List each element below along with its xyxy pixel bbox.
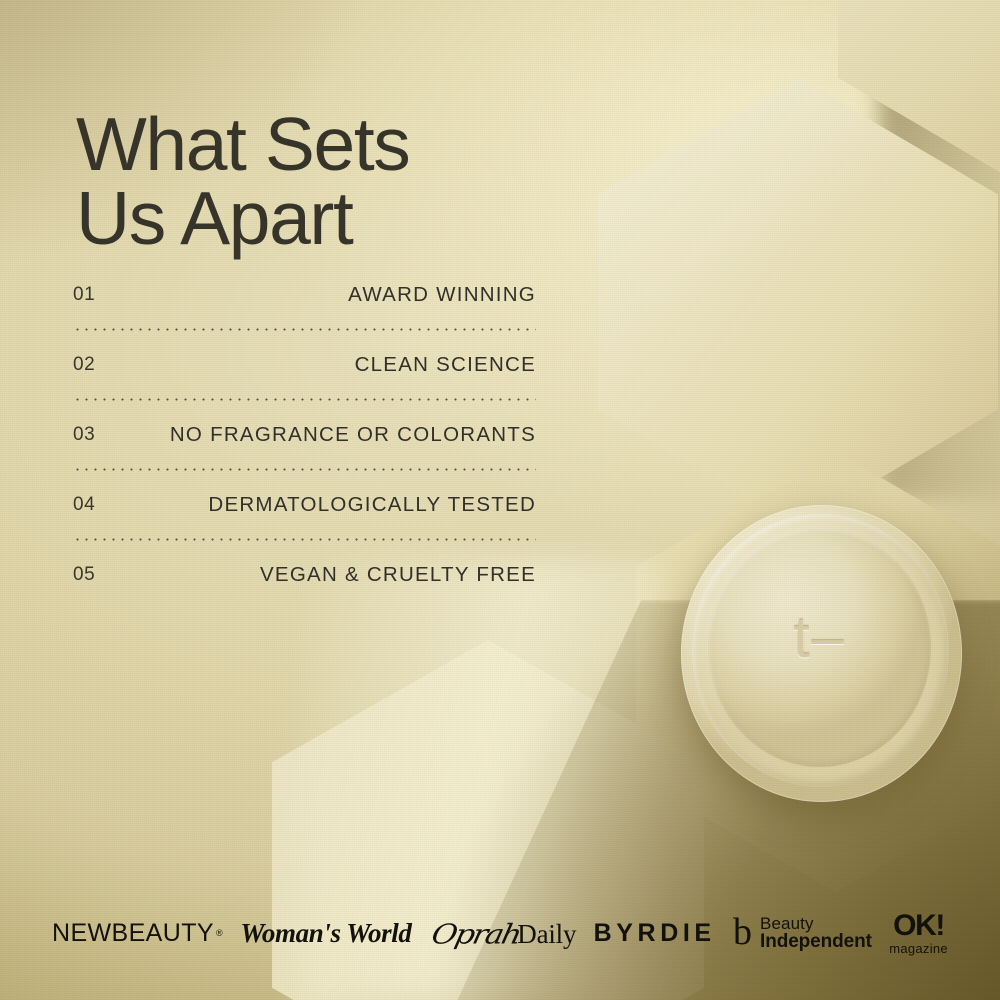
product-jar: t– — [681, 505, 962, 802]
oprah-daily-word: Daily — [517, 921, 576, 948]
promo-card: t– What Sets Us Apart 01 AWARD WINNING 0… — [0, 0, 1000, 1000]
feature-label: CLEAN SCIENCE — [355, 353, 536, 377]
beauty-independent-b-icon: b — [733, 917, 752, 947]
list-item: 05 VEGAN & CRUELTY FREE — [73, 552, 536, 597]
dotted-divider — [73, 457, 536, 482]
ok-wordmark: OK! — [893, 911, 944, 941]
beauty-independent-line-2: Independent — [760, 932, 872, 951]
newbeauty-wordmark: NEWBEAUTY — [52, 921, 214, 946]
beauty-independent-line-1: Beauty — [760, 915, 872, 932]
feature-number: 04 — [73, 494, 95, 516]
press-logo-bar: NEWBEAUTY® Woman's World OprahDaily BYRD… — [0, 906, 1000, 960]
list-item: 03 NO FRAGRANCE OR COLORANTS — [73, 412, 536, 457]
feature-number: 02 — [73, 354, 95, 376]
byrdie-wordmark: BYRDIE — [594, 921, 716, 946]
page-title: What Sets Us Apart — [76, 108, 596, 255]
feature-label: NO FRAGRANCE OR COLORANTS — [170, 423, 536, 447]
registered-trademark-icon: ® — [216, 929, 223, 938]
feature-label: VEGAN & CRUELTY FREE — [260, 563, 536, 587]
headline-line-2: Us Apart — [76, 182, 596, 256]
ok-magazine-subtitle: magazine — [889, 942, 948, 955]
dotted-divider — [73, 317, 536, 342]
dotted-divider — [73, 527, 536, 552]
press-logo-beauty-independent: b Beauty Independent — [733, 915, 872, 952]
feature-number: 03 — [73, 424, 95, 446]
list-item: 02 CLEAN SCIENCE — [73, 342, 536, 387]
beauty-independent-wordmark: Beauty Independent — [760, 915, 872, 952]
jar-lid: t– — [708, 528, 931, 767]
press-logo-newbeauty: NEWBEAUTY® — [52, 921, 223, 946]
womans-world-wordmark: Woman's World — [240, 920, 411, 947]
press-logo-oprah-daily: OprahDaily — [429, 918, 577, 949]
feature-label: DERMATOLOGICALLY TESTED — [208, 493, 536, 517]
oprah-signature-script: Oprah — [429, 921, 522, 948]
dotted-divider — [73, 387, 536, 412]
feature-number: 05 — [73, 564, 95, 586]
press-logo-ok-magazine: OK! magazine — [889, 911, 948, 955]
feature-number: 01 — [73, 284, 95, 306]
list-item: 04 DERMATOLOGICALLY TESTED — [73, 482, 536, 527]
press-logo-byrdie: BYRDIE — [594, 921, 716, 946]
headline-line-1: What Sets — [76, 108, 596, 182]
list-item: 01 AWARD WINNING — [73, 272, 536, 317]
feature-label: AWARD WINNING — [348, 283, 536, 307]
brand-mark-embossed: t– — [708, 609, 931, 667]
feature-list: 01 AWARD WINNING 02 CLEAN SCIENCE 03 NO … — [73, 272, 536, 597]
press-logo-womans-world: Woman's World — [240, 920, 411, 947]
